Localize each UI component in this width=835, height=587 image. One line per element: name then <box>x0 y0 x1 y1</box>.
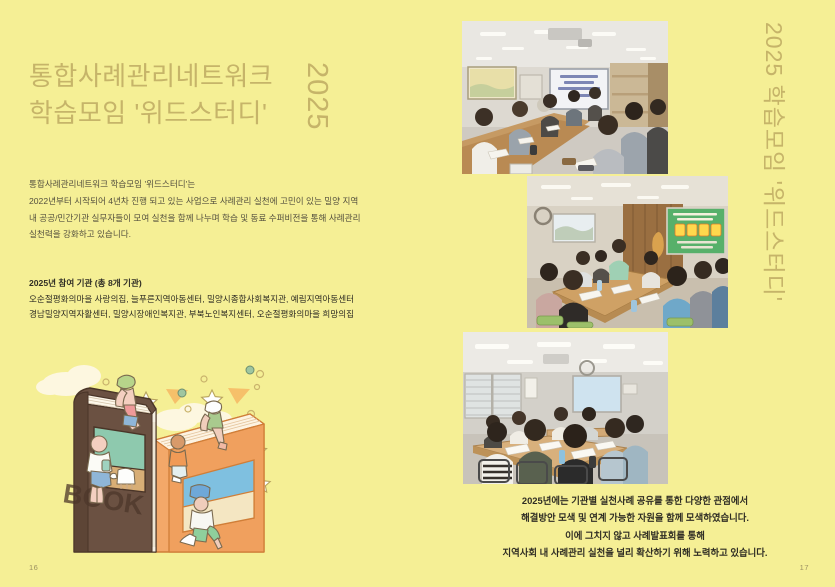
organizations-line-1: 오순절평화의마을 사랑의집, 늘푸른지역아동센터, 밀양시종합사회복지관, 예림… <box>29 292 399 307</box>
photo-meeting-room-presentation <box>462 21 668 174</box>
intro-paragraph: 통합사례관리네트워크 학습모임 '위드스터디'는 2022년부터 시작되어 4년… <box>29 176 389 243</box>
page-number-left: 16 <box>29 563 38 572</box>
organizations-heading: 2025년 참여 기관 (총 8개 기관) <box>29 276 399 291</box>
page-number-right: 17 <box>800 563 809 572</box>
vertical-title: 2025 학습모임 '위드스터디' <box>759 22 793 302</box>
book-illustration: BOOK <box>28 352 303 564</box>
organizations-line-2: 경남밀양지역자활센터, 밀양시장애인복지관, 부북노인복지센터, 오순절평화의마… <box>29 307 399 322</box>
intro-line-3: 내 공공/민간기관 실무자들이 모여 실천을 함께 나누며 학습 및 동료 수퍼… <box>29 210 389 227</box>
caption-line-3: 이에 그치지 않고 사례발표회를 통해 <box>440 527 830 544</box>
title-year-vertical: 2025 <box>300 62 333 131</box>
intro-line-4: 실천력을 강화하고 있습니다. <box>29 226 389 243</box>
photo-group-discussion <box>463 332 668 484</box>
brochure-spread: 통합사례관리네트워크 학습모임 '위드스터디' 2025 통합사례관리네트워크 … <box>0 0 835 587</box>
page-title: 통합사례관리네트워크 학습모임 '위드스터디' <box>29 58 399 132</box>
caption-line-1: 2025년에는 기관별 실천사례 공유를 통한 다양한 관점에서 <box>440 492 830 509</box>
title-line-2: 학습모임 '위드스터디' <box>29 95 399 132</box>
participating-organizations: 2025년 참여 기관 (총 8개 기관) 오순절평화의마을 사랑의집, 늘푸른… <box>29 276 399 321</box>
bottom-caption: 2025년에는 기관별 실천사례 공유를 통한 다양한 관점에서 해결방안 모색… <box>440 492 830 562</box>
intro-line-1: 통합사례관리네트워크 학습모임 '위드스터디'는 <box>29 176 389 193</box>
caption-line-2: 해결방안 모색 및 연계 가능한 자원을 함께 모색하였습니다. <box>440 509 830 526</box>
left-page: 통합사례관리네트워크 학습모임 '위드스터디' 2025 통합사례관리네트워크 … <box>0 0 418 587</box>
intro-line-2: 2022년부터 시작되어 4년차 진행 되고 있는 사업으로 사례관리 실천에 … <box>29 193 389 210</box>
title-line-1: 통합사례관리네트워크 <box>29 58 399 95</box>
photo-wooden-room-workshop <box>527 176 728 328</box>
caption-line-4: 지역사회 내 사례관리 실천을 널리 확산하기 위해 노력하고 있습니다. <box>440 544 830 561</box>
